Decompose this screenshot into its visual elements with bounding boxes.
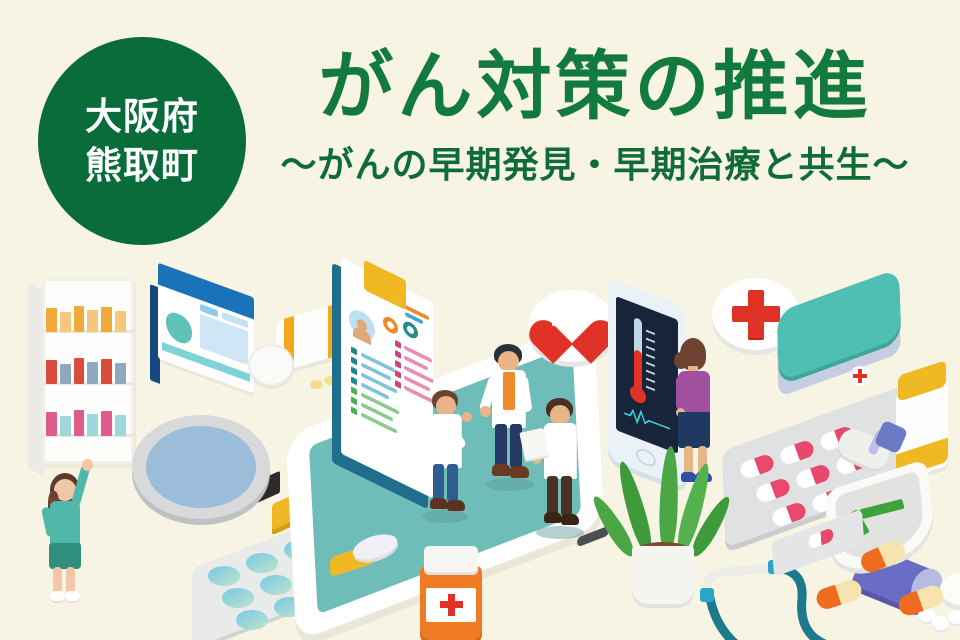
municipality-badge: 大阪府 熊取町 (38, 37, 246, 245)
illustration-area (0, 250, 960, 640)
medical-record-window-icon (150, 280, 258, 390)
poster-canvas: 大阪府 熊取町 がん対策の推進 〜がんの早期発見・早期治療と共生〜 (0, 0, 960, 640)
patient-avatar (349, 305, 375, 344)
magnifier-ring (132, 415, 270, 519)
page-subtitle: 〜がんの早期発見・早期治療と共生〜 (250, 136, 940, 188)
aid-cross-icon (850, 366, 870, 386)
page-title: がん対策の推進 (250, 44, 940, 128)
ecg-line-icon (624, 403, 670, 437)
bottle-cap (248, 344, 294, 386)
title-block: がん対策の推進 〜がんの早期発見・早期治療と共生〜 (250, 44, 940, 188)
medicine-shelf-icon (28, 278, 148, 478)
magnifier-lens (146, 426, 256, 508)
doctor-figure (532, 398, 594, 538)
badge-line-prefecture: 大阪府 (85, 94, 199, 139)
badge-line-town: 熊取町 (85, 143, 199, 188)
phone-screen (616, 296, 678, 454)
female-staff-figure (36, 465, 98, 605)
doctor-figure (418, 390, 478, 520)
organ-icon (166, 309, 192, 346)
panel-face (158, 263, 254, 394)
blister-tray-icon (770, 526, 890, 576)
header: 大阪府 熊取町 がん対策の推進 〜がんの早期発見・早期治療と共生〜 (0, 0, 960, 250)
medicine-bottle-icon (406, 540, 516, 640)
